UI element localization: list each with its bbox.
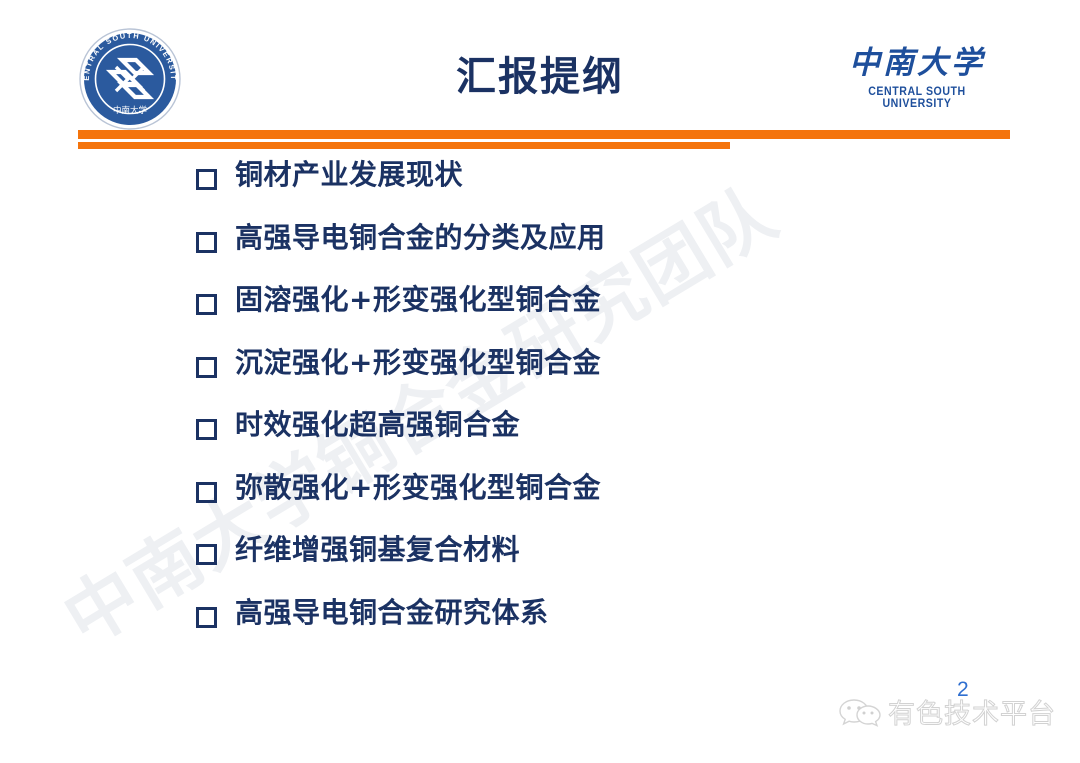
csu-wordmark-cn: 中南大学 xyxy=(826,46,1008,82)
outline-item: 弥散强化+形变强化型铜合金 xyxy=(196,473,1016,536)
outline-item: 铜材产业发展现状 xyxy=(196,160,1016,223)
outline-item: 固溶强化+形变强化型铜合金 xyxy=(196,285,1016,348)
accent-rule-bottom xyxy=(78,142,730,149)
presentation-slide: 中南大学铜合金研究团队 CENTRAL SOUTH UNIVERSITY xyxy=(0,0,1080,763)
outline-item: 高强导电铜合金的分类及应用 xyxy=(196,223,1016,286)
outline-item-label: 高强导电铜合金的分类及应用 xyxy=(235,223,606,253)
outline-item-label: 固溶强化+形变强化型铜合金 xyxy=(235,285,601,315)
outline-item-label: 时效强化超高强铜合金 xyxy=(235,410,520,440)
outline-item: 沉淀强化+形变强化型铜合金 xyxy=(196,348,1016,411)
outline-item: 时效强化超高强铜合金 xyxy=(196,410,1016,473)
outline-item-label: 沉淀强化+形变强化型铜合金 xyxy=(235,348,601,378)
square-bullet-icon xyxy=(196,419,217,440)
outline-item: 纤维增强铜基复合材料 xyxy=(196,535,1016,598)
square-bullet-icon xyxy=(196,294,217,315)
csu-wordmark-en: CENTRAL SOUTH UNIVERSITY xyxy=(833,86,1000,110)
outline-item-label: 高强导电铜合金研究体系 xyxy=(235,598,549,628)
outline-item-label: 弥散强化+形变强化型铜合金 xyxy=(235,473,601,503)
csu-wordmark: 中南大学 CENTRAL SOUTH UNIVERSITY xyxy=(826,46,1008,110)
square-bullet-icon xyxy=(196,544,217,565)
outline-item-label: 纤维增强铜基复合材料 xyxy=(235,535,520,565)
accent-rule-top xyxy=(78,130,1010,139)
square-bullet-icon xyxy=(196,232,217,253)
wechat-credit: 有色技术平台 xyxy=(838,692,1056,731)
page-number: 2 xyxy=(957,678,969,702)
outline-item-label: 铜材产业发展现状 xyxy=(235,160,463,190)
outline-item: 高强导电铜合金研究体系 xyxy=(196,598,1016,661)
square-bullet-icon xyxy=(196,482,217,503)
wechat-label: 有色技术平台 xyxy=(888,692,1056,731)
square-bullet-icon xyxy=(196,357,217,378)
square-bullet-icon xyxy=(196,607,217,628)
square-bullet-icon xyxy=(196,169,217,190)
outline-list: 铜材产业发展现状 高强导电铜合金的分类及应用 固溶强化+形变强化型铜合金 沉淀强… xyxy=(196,160,1016,660)
seal-bottom-text: 中南大学 xyxy=(113,105,148,116)
wechat-icon xyxy=(838,694,882,730)
slide-header: CENTRAL SOUTH UNIVERSITY 中南大学 汇报提纲 中南大学 … xyxy=(0,0,1080,130)
